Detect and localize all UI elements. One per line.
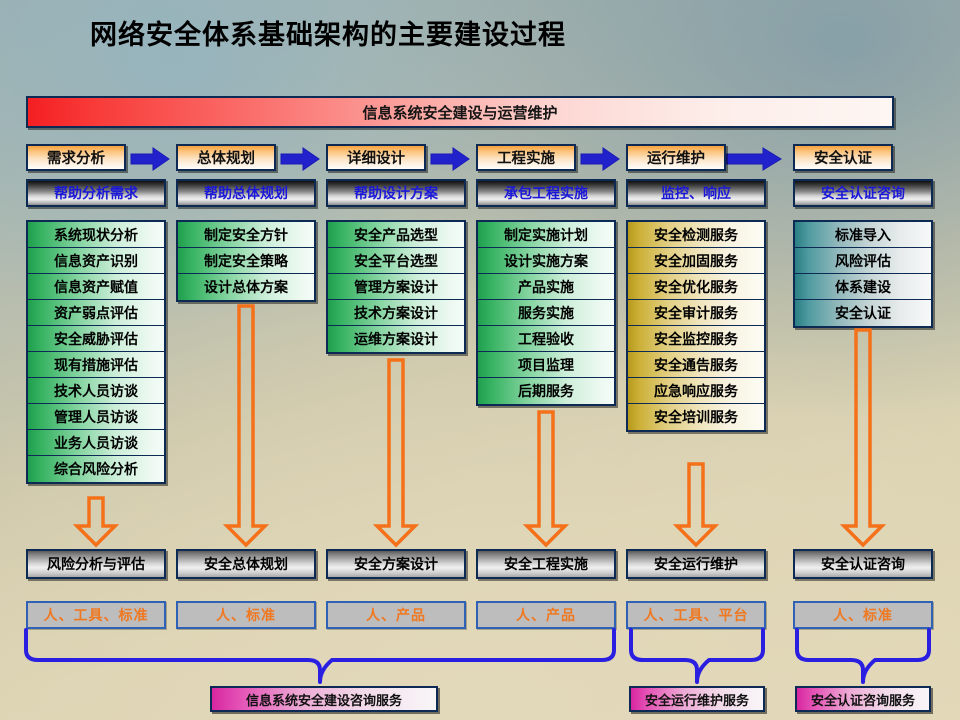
service-box-2[interactable]: 安全认证咨询服务	[795, 686, 931, 712]
list-item-label: 安全威胁评估	[54, 329, 138, 349]
phase-items-2: 安全产品选型 安全平台选型 管理方案设计 技术方案设计 运维方案设计	[326, 220, 466, 354]
resource-box-1[interactable]: 人、标准	[176, 601, 316, 629]
phase-arrow-5	[723, 148, 781, 170]
flow-arrow-3	[526, 412, 566, 546]
list-item-label: 系统现状分析	[54, 225, 138, 245]
output-box-label: 安全工程实施	[504, 554, 588, 574]
page-title: 网络安全体系基础架构的主要建设过程	[90, 14, 850, 58]
resource-box-5[interactable]: 人、标准	[793, 601, 933, 629]
output-box-label: 安全总体规划	[204, 554, 288, 574]
phase-role-label: 帮助设计方案	[354, 183, 438, 203]
phase-items-3: 制定实施计划 设计实施方案 产品实施 服务实施 工程验收 项目监理 后期服务	[476, 220, 616, 406]
output-box-label: 安全认证咨询	[821, 554, 905, 574]
phase-header-3[interactable]: 工程实施	[476, 144, 576, 171]
list-item[interactable]: 管理方案设计	[328, 274, 464, 300]
list-item-label: 安全平台选型	[354, 251, 438, 271]
list-item[interactable]: 设计总体方案	[178, 274, 314, 300]
list-item-label: 现有措施评估	[54, 355, 138, 375]
output-box-0[interactable]: 风险分析与评估	[26, 549, 166, 579]
resource-box-label: 人、标准	[216, 605, 276, 625]
phase-items-0: 系统现状分析 信息资产识别 信息资产赋值 资产弱点评估 安全威胁评估 现有措施评…	[26, 220, 166, 484]
list-item-label: 项目监理	[518, 355, 574, 375]
resource-box-label: 人、产品	[516, 605, 576, 625]
resource-box-label: 人、标准	[833, 605, 893, 625]
list-item-label: 安全优化服务	[654, 277, 738, 297]
phase-role-2[interactable]: 帮助设计方案	[326, 179, 466, 207]
phase-role-label: 监控、响应	[661, 183, 731, 203]
list-item-label: 应急响应服务	[654, 381, 738, 401]
phase-header-label: 工程实施	[497, 147, 555, 168]
list-item-label: 安全认证	[835, 303, 891, 323]
list-item[interactable]: 安全加固服务	[628, 248, 764, 274]
resource-box-label: 人、工具、平台	[644, 605, 749, 625]
list-item-label: 风险评估	[835, 251, 891, 271]
flow-arrow-5	[843, 330, 883, 546]
phase-items-5: 标准导入 风险评估 体系建设 安全认证	[793, 220, 933, 328]
list-item-label: 管理人员访谈	[54, 407, 138, 427]
top-banner-label: 信息系统安全建设与运营维护	[28, 98, 892, 128]
list-item[interactable]: 运维方案设计	[328, 326, 464, 352]
resource-box-4[interactable]: 人、工具、平台	[626, 601, 766, 629]
list-item[interactable]: 信息资产赋值	[28, 274, 164, 300]
list-item[interactable]: 安全监控服务	[628, 326, 764, 352]
brace-certification	[793, 628, 933, 684]
phase-role-label: 帮助分析需求	[54, 183, 138, 203]
list-item[interactable]: 制定安全策略	[178, 248, 314, 274]
flow-arrow-2	[376, 360, 416, 546]
list-item-label: 安全审计服务	[654, 303, 738, 323]
list-item-label: 运维方案设计	[354, 329, 438, 349]
resource-box-label: 人、工具、标准	[44, 605, 149, 625]
resource-box-3[interactable]: 人、产品	[476, 601, 616, 629]
list-item[interactable]: 安全检测服务	[628, 222, 764, 248]
phase-header-0[interactable]: 需求分析	[26, 144, 126, 171]
service-box-label: 安全认证咨询服务	[811, 690, 915, 709]
phase-arrow-3	[431, 148, 469, 170]
resource-box-2[interactable]: 人、产品	[326, 601, 466, 629]
service-box-1[interactable]: 安全运行维护服务	[629, 686, 765, 712]
list-item[interactable]: 风险评估	[795, 248, 931, 274]
list-item-label: 安全通告服务	[654, 355, 738, 375]
phase-arrow-1	[131, 148, 169, 170]
list-item[interactable]: 安全平台选型	[328, 248, 464, 274]
flow-arrow-0	[76, 498, 116, 546]
phase-role-5[interactable]: 安全认证咨询	[793, 179, 933, 207]
output-box-2[interactable]: 安全方案设计	[326, 549, 466, 579]
service-box-label: 安全运行维护服务	[645, 690, 749, 709]
resource-box-0[interactable]: 人、工具、标准	[26, 601, 166, 629]
output-box-3[interactable]: 安全工程实施	[476, 549, 616, 579]
phase-role-label: 安全认证咨询	[821, 183, 905, 203]
list-item-label: 业务人员访谈	[54, 433, 138, 453]
phase-role-0[interactable]: 帮助分析需求	[26, 179, 166, 207]
list-item-label: 安全监控服务	[654, 329, 738, 349]
list-item-label: 管理方案设计	[354, 277, 438, 297]
service-box-0[interactable]: 信息系统安全建设咨询服务	[210, 686, 438, 712]
list-item-label: 制定安全策略	[204, 251, 288, 271]
output-box-1[interactable]: 安全总体规划	[176, 549, 316, 579]
list-item[interactable]: 信息资产识别	[28, 248, 164, 274]
list-item[interactable]: 安全威胁评估	[28, 326, 164, 352]
output-box-label: 安全方案设计	[354, 554, 438, 574]
list-item[interactable]: 资产弱点评估	[28, 300, 164, 326]
list-item-label: 安全培训服务	[654, 407, 738, 427]
output-box-5[interactable]: 安全认证咨询	[793, 549, 933, 579]
resource-box-label: 人、产品	[366, 605, 426, 625]
list-item[interactable]: 现有措施评估	[28, 352, 164, 378]
list-item-label: 安全产品选型	[354, 225, 438, 245]
list-item[interactable]: 管理人员访谈	[28, 404, 164, 430]
brace-operations	[627, 628, 767, 684]
list-item[interactable]: 安全培训服务	[628, 404, 764, 430]
list-item[interactable]: 服务实施	[478, 300, 614, 326]
phase-role-4[interactable]: 监控、响应	[626, 179, 766, 207]
list-item[interactable]: 工程验收	[478, 326, 614, 352]
phase-header-label: 总体规划	[197, 147, 255, 168]
list-item[interactable]: 安全产品选型	[328, 222, 464, 248]
output-box-label: 安全运行维护	[654, 554, 738, 574]
list-item-label: 体系建设	[835, 277, 891, 297]
phase-arrow-4	[581, 148, 619, 170]
phase-arrow-2	[281, 148, 319, 170]
list-item[interactable]: 设计实施方案	[478, 248, 614, 274]
list-item[interactable]: 安全优化服务	[628, 274, 764, 300]
brace-consulting	[20, 628, 620, 684]
list-item[interactable]: 应急响应服务	[628, 378, 764, 404]
list-item-label: 制定实施计划	[504, 225, 588, 245]
list-item-label: 资产弱点评估	[54, 303, 138, 323]
list-item-label: 产品实施	[518, 277, 574, 297]
list-item-label: 技术方案设计	[354, 303, 438, 323]
list-item-label: 后期服务	[518, 381, 574, 401]
list-item[interactable]: 体系建设	[795, 274, 931, 300]
diagram-canvas: 网络安全体系基础架构的主要建设过程 信息系统安全建设与运营维护 需求分析 帮助分…	[0, 0, 960, 720]
list-item-label: 安全加固服务	[654, 251, 738, 271]
list-item-label: 工程验收	[518, 329, 574, 349]
phase-role-3[interactable]: 承包工程实施	[476, 179, 616, 207]
flow-arrow-1	[226, 306, 266, 546]
list-item-label: 服务实施	[518, 303, 574, 323]
list-item-label: 安全检测服务	[654, 225, 738, 245]
list-item[interactable]: 制定安全方针	[178, 222, 314, 248]
list-item[interactable]: 系统现状分析	[28, 222, 164, 248]
list-item[interactable]: 产品实施	[478, 274, 614, 300]
list-item[interactable]: 技术方案设计	[328, 300, 464, 326]
phase-items-1: 制定安全方针 制定安全策略 设计总体方案	[176, 220, 316, 302]
phase-items-4: 安全检测服务 安全加固服务 安全优化服务 安全审计服务 安全监控服务 安全通告服…	[626, 220, 766, 432]
top-banner: 信息系统安全建设与运营维护	[26, 96, 894, 128]
list-item[interactable]: 标准导入	[795, 222, 931, 248]
phase-header-4[interactable]: 运行维护	[626, 144, 726, 171]
output-box-label: 风险分析与评估	[47, 554, 145, 574]
list-item-label: 技术人员访谈	[54, 381, 138, 401]
phase-header-label: 安全认证	[814, 147, 872, 168]
list-item-label: 设计实施方案	[504, 251, 588, 271]
phase-header-1[interactable]: 总体规划	[176, 144, 276, 171]
list-item-label: 信息资产识别	[54, 251, 138, 271]
list-item[interactable]: 项目监理	[478, 352, 614, 378]
list-item[interactable]: 安全审计服务	[628, 300, 764, 326]
list-item[interactable]: 综合风险分析	[28, 456, 164, 482]
phase-header-5[interactable]: 安全认证	[793, 144, 893, 171]
list-item[interactable]: 制定实施计划	[478, 222, 614, 248]
phase-header-label: 运行维护	[647, 147, 705, 168]
list-item[interactable]: 安全通告服务	[628, 352, 764, 378]
flow-arrow-4	[676, 464, 716, 546]
output-box-4[interactable]: 安全运行维护	[626, 549, 766, 579]
phase-role-label: 帮助总体规划	[204, 183, 288, 203]
phase-role-label: 承包工程实施	[504, 183, 588, 203]
phase-role-1[interactable]: 帮助总体规划	[176, 179, 316, 207]
list-item[interactable]: 业务人员访谈	[28, 430, 164, 456]
list-item-label: 制定安全方针	[204, 225, 288, 245]
phase-header-2[interactable]: 详细设计	[326, 144, 426, 171]
list-item-label: 标准导入	[835, 225, 891, 245]
list-item[interactable]: 后期服务	[478, 378, 614, 404]
list-item-label: 设计总体方案	[204, 277, 288, 297]
list-item-label: 综合风险分析	[54, 459, 138, 479]
list-item-label: 信息资产赋值	[54, 277, 138, 297]
list-item[interactable]: 安全认证	[795, 300, 931, 326]
list-item[interactable]: 技术人员访谈	[28, 378, 164, 404]
service-box-label: 信息系统安全建设咨询服务	[246, 690, 402, 709]
phase-header-label: 需求分析	[47, 147, 105, 168]
phase-header-label: 详细设计	[347, 147, 405, 168]
